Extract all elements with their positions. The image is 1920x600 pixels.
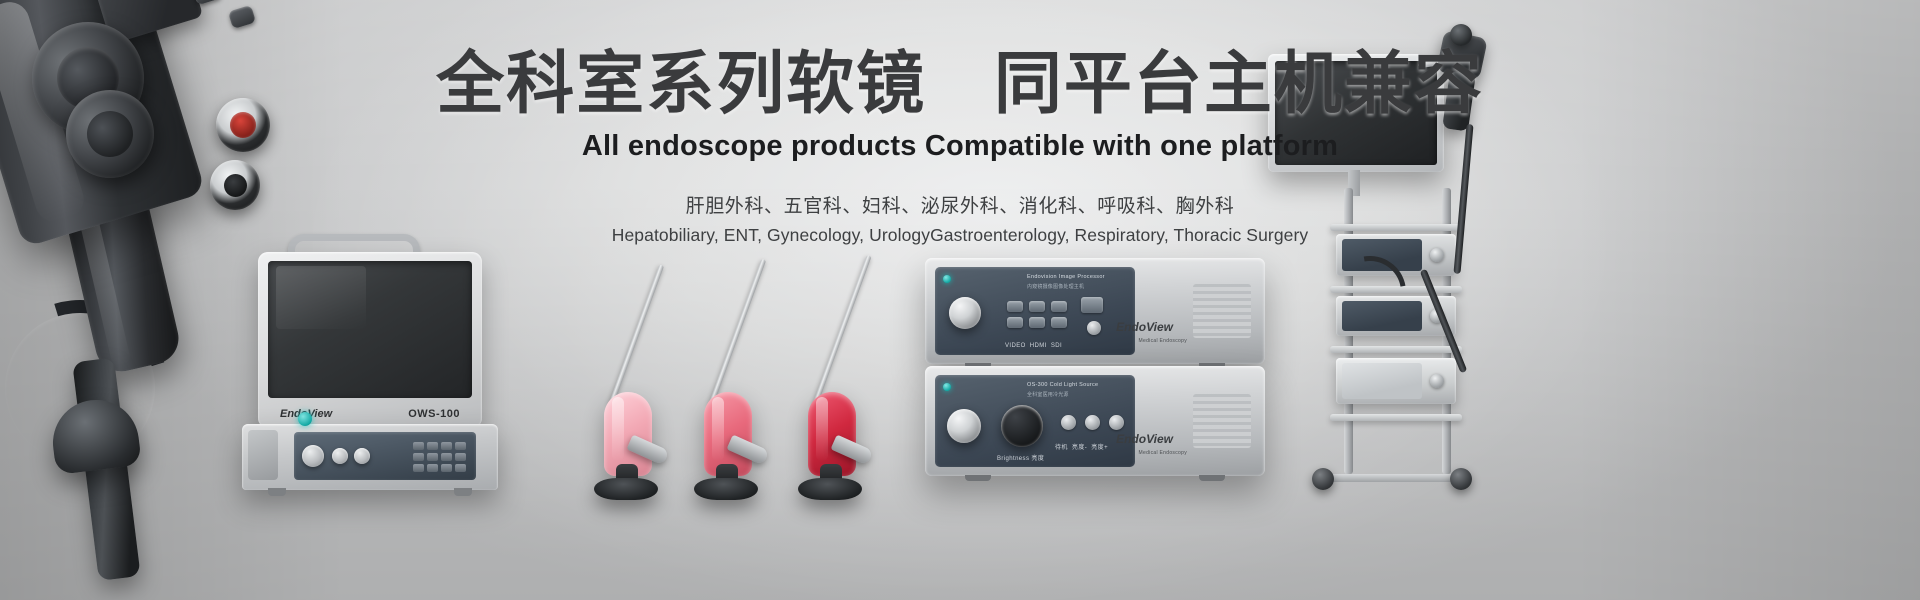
instrument-stand-base [798, 478, 862, 500]
cart-shelf-4 [1330, 414, 1462, 421]
product-cold-light-source: OS-300 Cold Light Source 全科室医用冷光源 待机 亮度-… [925, 366, 1265, 476]
cart-shelf-3 [1330, 346, 1462, 353]
cart-wheel-right [1450, 468, 1472, 490]
light-source-power-led [943, 383, 951, 391]
processor-button-6 [1051, 317, 1067, 328]
light-source-button-2[interactable] [1085, 415, 1100, 430]
processor-vent-grille [1193, 284, 1251, 338]
department-list: 肝胆外科、五官科、妇科、泌尿外科、消化科、呼吸科、胸外科 Hepatobilia… [0, 193, 1920, 248]
light-source-button-labels: 待机 亮度- 亮度+ [1055, 442, 1108, 451]
console-foot-right [454, 488, 472, 496]
console-dial-secondary [332, 448, 348, 464]
light-source-brightness-knob [1001, 405, 1043, 447]
cart-wheel-left [1312, 468, 1334, 490]
light-source-foot-right [1199, 475, 1225, 481]
cart-device-3-knob [1430, 374, 1444, 388]
processor-front-panel: Endovision Image Processor 内窥镜摄像图像处理主机 V… [935, 267, 1135, 355]
processor-button-1 [1007, 301, 1023, 312]
processor-subtitle-label: 内窥镜摄像图像处理主机 [1027, 283, 1084, 290]
product-instrument-red [712, 246, 872, 494]
departments-chinese: 肝胆外科、五官科、妇科、泌尿外科、消化科、呼吸科、胸外科 [0, 193, 1920, 222]
processor-brand-subtitle: Medical Endoscopy [1139, 338, 1187, 344]
processor-main-dial [949, 297, 981, 329]
cart-device-3-panel [1342, 363, 1422, 399]
processor-usb-port [1081, 297, 1103, 313]
page-title: 全科室系列软镜 同平台主机兼容 [0, 46, 1920, 122]
light-source-vent-grille [1193, 394, 1251, 448]
processor-standby-button[interactable] [1087, 321, 1101, 335]
promo-banner: EndoView OWS-100 [0, 0, 1920, 600]
processor-port-labels: VIDEO HDMI SDI [1005, 343, 1062, 349]
cart-scope-knob [1450, 24, 1472, 46]
departments-english: Hepatobiliary, ENT, Gynecology, UrologyG… [0, 222, 1920, 248]
console-control-panel [294, 432, 476, 480]
processor-button-2 [1029, 301, 1045, 312]
light-source-knob-label: Brightness 亮度 [997, 453, 1044, 462]
processor-button-5 [1029, 317, 1045, 328]
light-source-button-1[interactable] [1061, 415, 1076, 430]
processor-button-4 [1007, 317, 1023, 328]
processor-title-label: Endovision Image Processor [1027, 274, 1105, 280]
light-source-brand-subtitle: Medical Endoscopy [1139, 450, 1187, 456]
product-image-processor: Endovision Image Processor 内窥镜摄像图像处理主机 V… [925, 258, 1265, 364]
console-keypad [413, 442, 466, 472]
processor-power-led [943, 275, 951, 283]
headline-part-1: 全科室系列软镜 [436, 46, 926, 122]
light-source-foot-left [965, 475, 991, 481]
light-source-button-3[interactable] [1109, 415, 1124, 430]
console-dial-tertiary [354, 448, 370, 464]
banner-text-block: 全科室系列软镜 同平台主机兼容 All endoscope products C… [0, 46, 1920, 248]
console-model-label: OWS-100 [408, 408, 460, 420]
processor-brand-label: EndoView [1116, 320, 1173, 334]
processor-button-3 [1051, 301, 1067, 312]
light-source-brand-label: EndoView [1116, 432, 1173, 446]
light-source-subtitle-label: 全科室医用冷光源 [1027, 391, 1069, 398]
endoscope-button-3 [228, 5, 256, 29]
banner-tagline: All endoscope products Compatible with o… [0, 130, 1920, 163]
cart-device-3 [1336, 358, 1456, 404]
light-source-output-dial [947, 409, 981, 443]
cart-device-1-knob [1430, 248, 1444, 262]
headline-part-2: 同平台主机兼容 [994, 46, 1484, 122]
instrument-shaft [812, 255, 871, 407]
light-source-front-panel: OS-300 Cold Light Source 全科室医用冷光源 待机 亮度-… [935, 375, 1135, 467]
light-source-title-label: OS-300 Cold Light Source [1027, 382, 1098, 388]
